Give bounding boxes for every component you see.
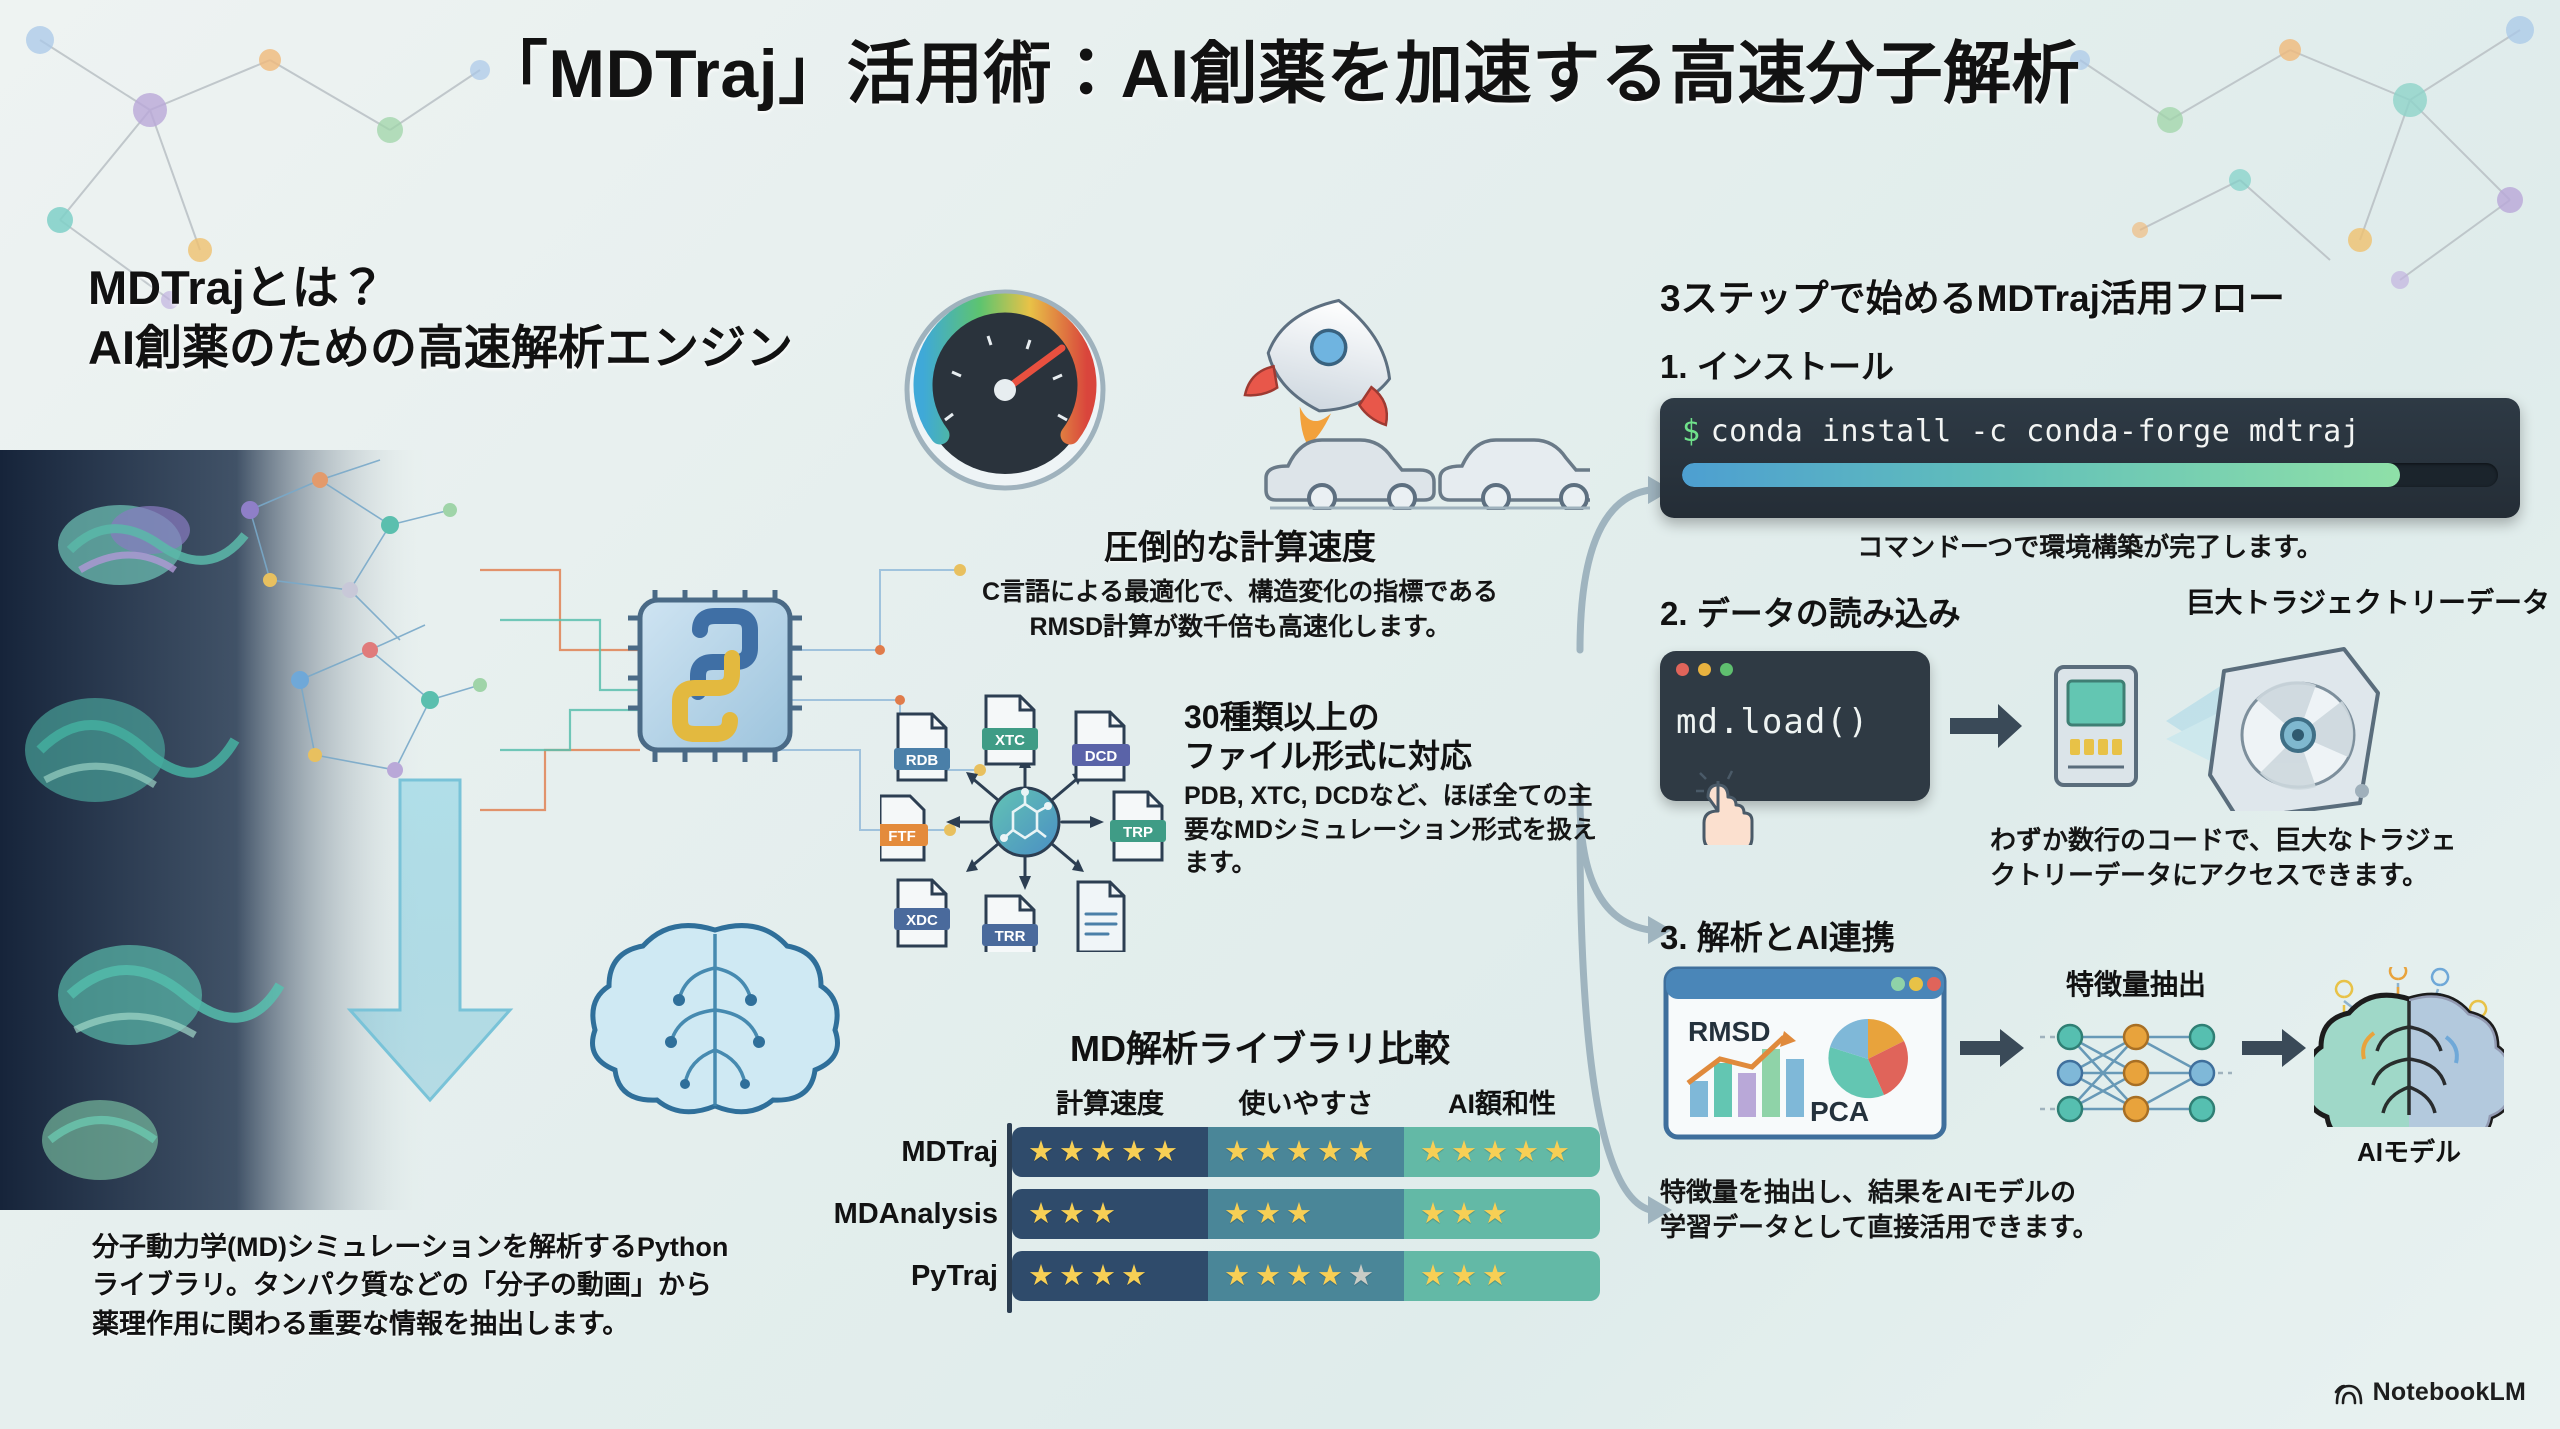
code-snippet: md.load() — [1676, 702, 1914, 742]
car-icon — [1266, 440, 1434, 510]
star-icon: ★ — [1451, 1200, 1477, 1229]
window-dot-yellow — [1698, 663, 1711, 676]
car-icon — [1440, 440, 1590, 510]
star-icon: ★ — [1420, 1200, 1446, 1229]
comparison-row: MDAnalysis★★★★★★★★★ — [1012, 1189, 1600, 1239]
formats-head-line1: 30種類以上の — [1184, 698, 1600, 737]
chart-window-icon[interactable]: RMSD PCA — [1660, 963, 1950, 1143]
svg-text:FTF: FTF — [888, 828, 916, 845]
terminal-command: conda install -c conda-forge mdtraj — [1711, 414, 2361, 449]
hard-disk-icon — [2156, 641, 2386, 811]
svg-text:TRP: TRP — [1123, 824, 1153, 841]
comparison-row-label: PyTraj — [911, 1251, 998, 1301]
star-icon: ★ — [1451, 1138, 1477, 1167]
star-icon: ★ — [1255, 1262, 1281, 1291]
star-icon: ★ — [1152, 1138, 1178, 1167]
star-icon: ★ — [1348, 1138, 1374, 1167]
comparison-rating-cell: ★★★ — [1404, 1251, 1600, 1301]
speed-lines-icon — [1115, 330, 1250, 394]
star-icon: ★ — [1224, 1262, 1250, 1291]
comparison-column-header: 使いやすさ — [1208, 1082, 1404, 1121]
install-progress-bar — [1682, 463, 2498, 487]
step3-title: 3. 解析とAI連携 — [1660, 911, 2550, 959]
formats-description: PDB, XTC, DCDなど、ほぼ全ての主要なMDシミュレーション形式を扱えま… — [1184, 780, 1600, 881]
star-icon: ★ — [1224, 1200, 1250, 1229]
comparison-table: MD解析ライブラリ比較 計算速度 使いやすさ AI額和性 MDTraj★★★★★… — [860, 1020, 1600, 1313]
star-icon: ★ — [1121, 1138, 1147, 1167]
comparison-title: MD解析ライブラリ比較 — [920, 1020, 1600, 1072]
file-formats-illustration: RDB XTC DCD — [880, 692, 1170, 952]
star-icon: ★ — [1544, 1138, 1570, 1167]
file-formats-block: RDB XTC DCD — [880, 692, 1600, 952]
star-icon: ★ — [1420, 1262, 1446, 1291]
step2-caption-line2: クトリーデータにアクセスできます。 — [1990, 858, 2550, 893]
comparison-rating-cell: ★★★ — [1012, 1189, 1208, 1239]
star-icon: ★ — [1513, 1138, 1539, 1167]
file-card-ftf: FTF — [880, 796, 928, 860]
step-3: 3. 解析とAI連携 RMSD PCA — [1660, 911, 2550, 1245]
star-icon: ★ — [1451, 1262, 1477, 1291]
step-1: 1. インストール $conda install -c conda-forge … — [1660, 340, 2550, 565]
step3-caption: 特徴量を抽出し、結果をAIモデルの 学習データとして直接活用できます。 — [1660, 1175, 2550, 1245]
speed-illustration — [890, 270, 1590, 510]
star-icon: ★ — [1255, 1200, 1281, 1229]
comparison-rating-cell: ★★★★★ — [1208, 1127, 1404, 1177]
star-icon: ★ — [1224, 1138, 1250, 1167]
star-icon-dim: ★ — [1348, 1262, 1374, 1291]
notebooklm-watermark: NotebookLM — [2334, 1378, 2526, 1407]
window-dot-red — [1676, 663, 1689, 676]
star-icon: ★ — [1317, 1138, 1343, 1167]
step2-caption-line1: わずか数行のコードで、巨大なトラジェ — [1990, 823, 2550, 858]
python-chip-icon — [628, 590, 802, 762]
star-icon: ★ — [1090, 1200, 1116, 1229]
panel-label-pca: PCA — [1810, 1096, 1869, 1127]
arrow-right-icon — [2240, 1023, 2310, 1073]
left-column-header: MDTrajとは？ AI創薬のための高速解析エンジン — [88, 258, 988, 378]
star-icon: ★ — [1317, 1262, 1343, 1291]
star-icon: ★ — [1028, 1262, 1054, 1291]
brain-icon — [593, 926, 838, 1112]
neural-network-icon — [2036, 1003, 2236, 1143]
comparison-row: MDTraj★★★★★★★★★★★★★★★ — [1012, 1127, 1600, 1177]
file-card-trr: TRR — [982, 896, 1038, 952]
arrow-right-icon — [1958, 1023, 2028, 1073]
star-icon: ★ — [1028, 1138, 1054, 1167]
star-icon: ★ — [1059, 1200, 1085, 1229]
step3-caption-line1: 特徴量を抽出し、結果をAIモデルの — [1660, 1175, 2550, 1210]
comparison-rating-cell: ★★★★★ — [1404, 1127, 1600, 1177]
star-icon: ★ — [1286, 1262, 1312, 1291]
panel-label-rmsd: RMSD — [1688, 1016, 1770, 1047]
step2-caption: わずか数行のコードで、巨大なトラジェ クトリーデータにアクセスできます。 — [1990, 823, 2550, 893]
svg-text:DCD: DCD — [1085, 748, 1118, 765]
star-icon: ★ — [1482, 1138, 1508, 1167]
star-icon: ★ — [1028, 1200, 1054, 1229]
terminal-prompt: $ — [1682, 414, 1701, 449]
file-card-xdc: XDC — [894, 880, 950, 946]
right-column: 3ステップで始めるMDTraj活用フロー 1. インストール $conda in… — [1660, 268, 2550, 1245]
file-card-generic — [1078, 882, 1124, 952]
feature-extraction-label: 特徴量抽出 — [2036, 963, 2236, 1003]
comparison-header-row: 計算速度 使いやすさ AI額和性 — [860, 1082, 1600, 1121]
formats-head-line2: ファイル形式に対応 — [1184, 737, 1600, 776]
speed-desc-line2: RMSD計算が数千倍も高速化します。 — [880, 610, 1600, 645]
star-icon: ★ — [1059, 1262, 1085, 1291]
terminal-command-line: $conda install -c conda-forge mdtraj — [1682, 414, 2498, 449]
arrow-right-icon — [1946, 696, 2026, 756]
step3-caption-line2: 学習データとして直接活用できます。 — [1660, 1210, 2550, 1245]
star-icon: ★ — [1286, 1138, 1312, 1167]
svg-text:XTC: XTC — [995, 732, 1025, 749]
install-progress-fill — [1682, 463, 2400, 487]
notebooklm-logo-icon — [2334, 1380, 2364, 1406]
notebooklm-label: NotebookLM — [2373, 1378, 2526, 1407]
brain-icon — [2314, 967, 2504, 1127]
speed-title: 圧倒的な計算速度 — [880, 520, 1600, 569]
star-icon: ★ — [1255, 1138, 1281, 1167]
step-2: 2. データの読み込み 巨大トラジェクトリーデータ md.load() — [1660, 587, 2550, 893]
star-icon: ★ — [1121, 1262, 1147, 1291]
comparison-row: PyTraj★★★★★★★★★★★★ — [1012, 1251, 1600, 1301]
window-dot-green — [1720, 663, 1733, 676]
svg-text:TRR: TRR — [995, 928, 1026, 945]
left-description: 分子動力学(MD)シミュレーションを解析するPythonライブラリ。タンパク質な… — [92, 1228, 732, 1343]
file-card-dcd: DCD — [1072, 712, 1130, 780]
code-card[interactable]: md.load() — [1660, 651, 1930, 801]
comparison-grid: MDTraj★★★★★★★★★★★★★★★MDAnalysis★★★★★★★★★… — [860, 1127, 1600, 1301]
comparison-column-header: 計算速度 — [1012, 1082, 1208, 1121]
database-icon — [2042, 651, 2150, 801]
star-icon: ★ — [1482, 1262, 1508, 1291]
comparison-row-label: MDAnalysis — [834, 1189, 998, 1239]
flow-heading: 3ステップで始めるMDTraj活用フロー — [1660, 268, 2550, 322]
step1-caption: コマンド一つで環境構築が完了します。 — [1660, 530, 2520, 565]
file-card-rdb: RDB — [894, 714, 950, 780]
comparison-rating-cell: ★★★★ — [1012, 1251, 1208, 1301]
step2-side-label: 巨大トラジェクトリーデータ — [2187, 581, 2550, 621]
comparison-rating-cell: ★★★★★ — [1208, 1251, 1404, 1301]
cursor-hand-icon — [1696, 767, 1766, 845]
comparison-rating-cell: ★★★ — [1404, 1189, 1600, 1239]
rocket-icon — [1237, 286, 1409, 461]
page-title-container: 「MDTraj」活用術：AI創薬を加速する高速分子解析 — [0, 18, 2560, 117]
svg-text:RDB: RDB — [906, 752, 939, 769]
star-icon: ★ — [1286, 1200, 1312, 1229]
svg-text:XDC: XDC — [906, 912, 938, 929]
page-title: 「MDTraj」活用術：AI創薬を加速する高速分子解析 — [0, 18, 2560, 117]
ai-model-label: AIモデル — [2314, 1132, 2504, 1169]
file-card-trp: TRP — [1110, 792, 1166, 860]
comparison-rating-cell: ★★★★★ — [1012, 1127, 1208, 1177]
file-card-xtc: XTC — [982, 696, 1038, 764]
left-illustration — [0, 450, 1010, 1210]
left-heading-line1: MDTrajとは？ — [88, 258, 988, 318]
comparison-column-header: AI額和性 — [1404, 1082, 1600, 1121]
star-icon: ★ — [1420, 1138, 1446, 1167]
left-heading-line2: AI創薬のための高速解析エンジン — [88, 318, 988, 378]
star-icon: ★ — [1090, 1138, 1116, 1167]
speed-desc-line1: C言語による最適化で、構造変化の指標である — [880, 575, 1600, 610]
pie-chart-icon — [1828, 1019, 1908, 1098]
window-dots — [1676, 663, 1914, 676]
step1-title: 1. インストール — [1660, 340, 2550, 388]
middle-column: 圧倒的な計算速度 C言語による最適化で、構造変化の指標である RMSD計算が数千… — [880, 270, 1600, 952]
comparison-row-label: MDTraj — [901, 1127, 998, 1177]
star-icon: ★ — [1482, 1200, 1508, 1229]
terminal-window[interactable]: $conda install -c conda-forge mdtraj — [1660, 398, 2520, 518]
star-icon: ★ — [1090, 1262, 1116, 1291]
speedometer-icon — [907, 292, 1103, 488]
star-icon: ★ — [1059, 1138, 1085, 1167]
comparison-rating-cell: ★★★ — [1208, 1189, 1404, 1239]
